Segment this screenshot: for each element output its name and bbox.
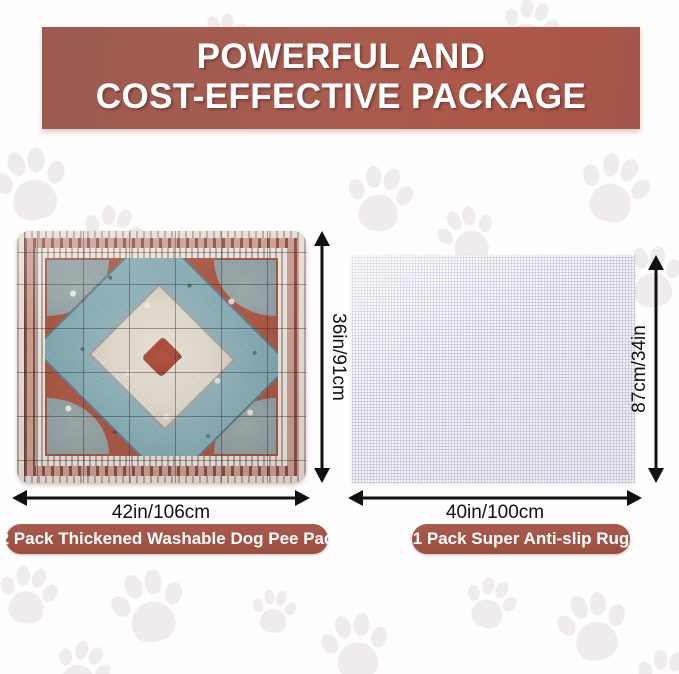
arrow-up-icon bbox=[648, 255, 664, 270]
dimension-pee-pad-width: 42in/106cm bbox=[12, 488, 310, 508]
dimension-antislip-rug-height: 87cm/34in bbox=[646, 255, 666, 483]
paw-print-icon bbox=[316, 607, 396, 674]
dimension-label-pee-pad-height: 36in/91cm bbox=[327, 313, 349, 401]
dimension-label-pee-pad-width: 42in/106cm bbox=[12, 502, 310, 524]
paw-print-icon bbox=[341, 160, 419, 243]
dimension-label-antislip-rug-height: 87cm/34in bbox=[629, 325, 651, 413]
arrow-down-icon bbox=[648, 468, 664, 483]
caption-antislip-rug: 1 Pack Super Anti-slip Rug bbox=[412, 524, 630, 554]
paw-print-icon bbox=[631, 644, 679, 674]
product-feature-image: POWERFUL AND COST-EFFECTIVE PACKAGE bbox=[0, 0, 679, 674]
paw-print-icon bbox=[456, 569, 524, 640]
dimension-pee-pad-height: 36in/91cm bbox=[312, 231, 332, 483]
paw-print-icon bbox=[44, 632, 120, 674]
paw-print-icon bbox=[249, 586, 299, 640]
dimension-antislip-rug-width: 40in/100cm bbox=[348, 488, 642, 508]
pee-pad-rug-pattern bbox=[17, 231, 306, 483]
paw-print-icon bbox=[103, 560, 197, 658]
paw-print-icon bbox=[0, 139, 78, 235]
arrow-up-icon bbox=[314, 231, 330, 246]
header-banner: POWERFUL AND COST-EFFECTIVE PACKAGE bbox=[42, 27, 640, 129]
paw-print-icon bbox=[551, 583, 638, 674]
caption-pee-pad: 2 Pack Thickened Washable Dog Pee Pad bbox=[6, 524, 328, 554]
arrow-down-icon bbox=[314, 468, 330, 483]
paw-print-icon bbox=[0, 559, 64, 634]
paw-print-icon bbox=[569, 144, 660, 239]
dimension-label-antislip-rug-width: 40in/100cm bbox=[348, 502, 642, 524]
banner-headline-line1: POWERFUL AND bbox=[197, 37, 486, 77]
product-image-antislip-rug bbox=[352, 255, 635, 483]
banner-headline-line2: COST-EFFECTIVE PACKAGE bbox=[96, 77, 586, 117]
product-image-pee-pad bbox=[17, 231, 306, 483]
